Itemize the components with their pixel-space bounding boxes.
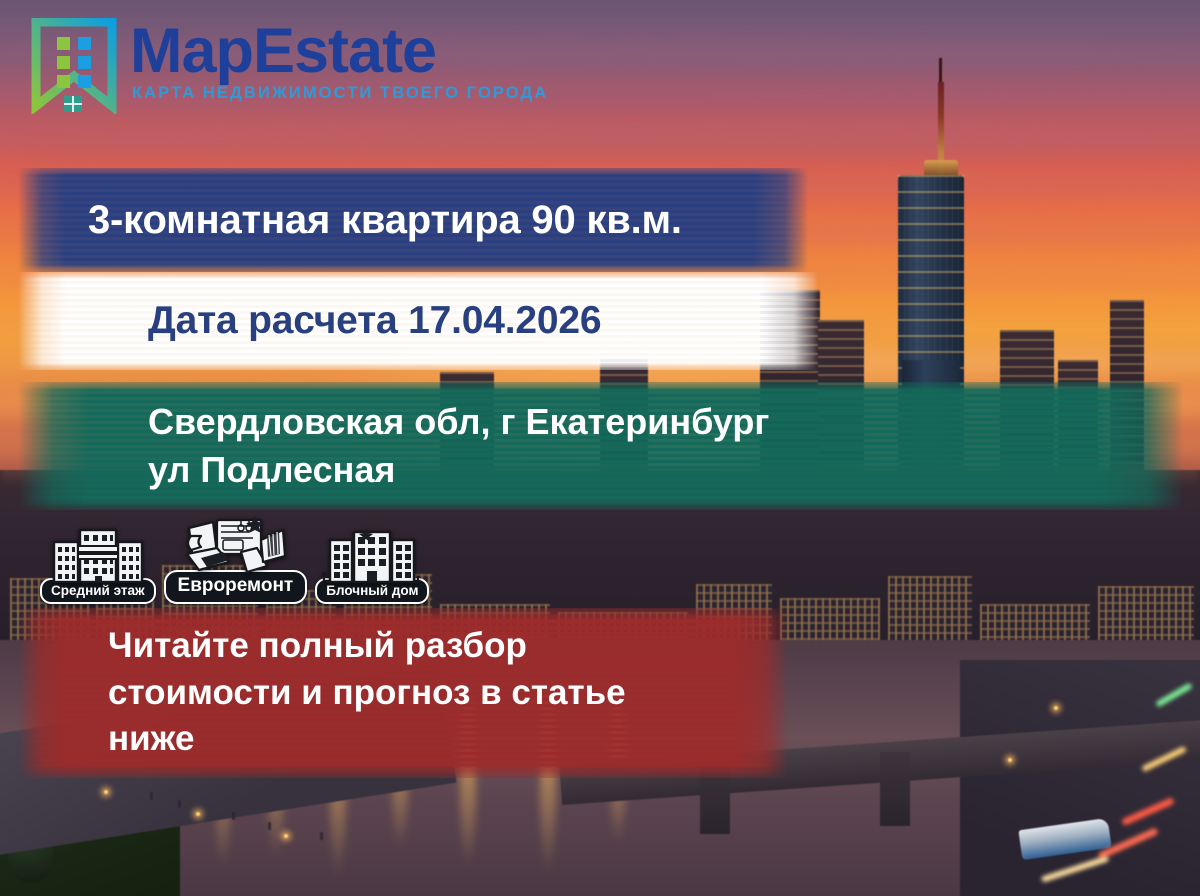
badge-block-house[interactable]: Блочный дом: [315, 526, 429, 604]
right-embankment: [960, 660, 1200, 896]
cta-line-1: Читайте полный разбор: [108, 623, 788, 670]
bookmark-building-icon: [30, 18, 118, 114]
brand-text: MapEstate КАРТА НЕДВИЖИМОСТИ ТВОЕГО ГОРО…: [130, 22, 548, 103]
cta-text: Читайте полный разбор стоимости и прогно…: [18, 623, 788, 763]
feature-badges: Средний этаж: [40, 518, 429, 604]
cta-banner[interactable]: Читайте полный разбор стоимости и прогно…: [18, 608, 788, 778]
pedestrian: [150, 792, 153, 800]
cta-line-2: стоимости и прогноз в статье: [108, 670, 788, 717]
pedestrian: [268, 822, 271, 830]
street-lamp: [104, 790, 108, 794]
cloud-band: [0, 124, 1200, 154]
pedestrian: [178, 800, 181, 808]
brand-name: MapEstate: [130, 22, 548, 82]
address-banner: Свердловская обл, г Екатеринбург ул Подл…: [18, 382, 1183, 510]
cta-line-3: ниже: [108, 716, 788, 763]
address-line-street: ул Подлесная: [148, 446, 1183, 494]
midrise-building-icon: [50, 526, 146, 584]
street-lamp: [1054, 706, 1058, 710]
brand-logo[interactable]: MapEstate КАРТА НЕДВИЖИМОСТИ ТВОЕГО ГОРО…: [30, 18, 548, 114]
street-lamp: [284, 834, 288, 838]
calculation-date-text: Дата расчета 17.04.2026: [18, 299, 818, 343]
badge-euro-renovation[interactable]: Евроремонт: [164, 518, 308, 604]
address-text: Свердловская обл, г Екатеринбург ул Подл…: [18, 398, 1183, 493]
badge-middle-floor[interactable]: Средний этаж: [40, 526, 156, 604]
street-lamp: [196, 812, 200, 816]
pedestrian: [232, 812, 235, 820]
pedestrian: [320, 832, 323, 840]
property-title-text: 3-комнатная квартира 90 кв.м.: [18, 198, 808, 243]
address-line-region-city: Свердловская обл, г Екатеринбург: [148, 398, 1183, 446]
brand-tagline: КАРТА НЕДВИЖИМОСТИ ТВОЕГО ГОРОДА: [132, 84, 548, 103]
street-lamp: [1008, 758, 1012, 762]
renovation-tools-icon: [183, 518, 287, 576]
bridge-pier: [880, 752, 910, 826]
calculation-date-banner: Дата расчета 17.04.2026: [18, 272, 818, 370]
block-apartment-building-icon: [322, 526, 422, 584]
property-title-banner: 3-комнатная квартира 90 кв.м.: [18, 168, 808, 272]
